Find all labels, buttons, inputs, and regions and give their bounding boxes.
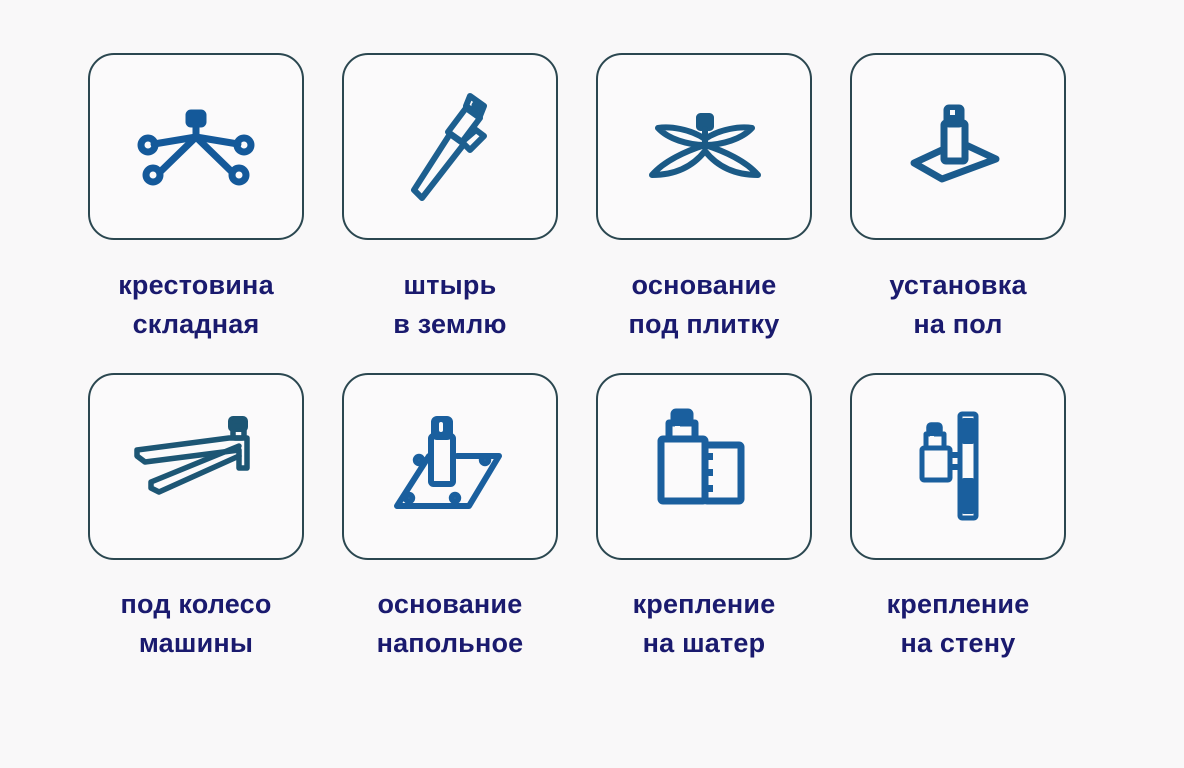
icon-card[interactable] [88,373,304,560]
grid-item-osnovanie-napolnoe[interactable]: основание напольное [342,373,558,664]
grid-item-label: под колесо машины [120,585,271,664]
wheel-base-icon [126,406,266,526]
grid-item-krestovina-skladnaya[interactable]: крестовина складная [88,53,304,345]
icon-card[interactable] [342,53,558,240]
grid-item-pod-koleso-mashiny[interactable]: под колесо машины [88,373,304,664]
icon-card[interactable] [342,373,558,560]
floor-mount-icon [888,87,1028,207]
grid-item-label: крепление на шатер [633,585,776,664]
ground-stake-icon [380,87,520,207]
grid-item-label: установка на пол [889,266,1026,345]
icon-card[interactable] [596,373,812,560]
icon-card[interactable] [850,373,1066,560]
icon-grid-page: крестовина складная штырь в землю [0,0,1184,768]
icon-card[interactable] [596,53,812,240]
grid-item-label: крестовина складная [118,266,274,345]
grid-item-shtyr-v-zemlyu[interactable]: штырь в землю [342,53,558,345]
icon-card[interactable] [850,53,1066,240]
grid-item-kreplenie-na-shater[interactable]: крепление на шатер [596,373,812,664]
grid-item-label: крепление на стену [887,585,1030,664]
grid-item-label: основание под плитку [629,266,780,345]
grid-item-kreplenie-na-stenu[interactable]: крепление на стену [850,373,1066,664]
grid-item-label: основание напольное [377,585,524,664]
floor-plate-base-icon [380,406,520,526]
grid-item-ustanovka-na-pol[interactable]: установка на пол [850,53,1066,345]
wall-mount-icon [888,406,1028,526]
grid-item-osnovanie-pod-plitku[interactable]: основание под плитку [596,53,812,345]
icon-card[interactable] [88,53,304,240]
tile-base-icon [634,87,774,207]
tent-clamp-icon [634,406,774,526]
folding-cross-base-icon [126,87,266,207]
grid-item-label: штырь в землю [393,266,506,345]
mounting-options-grid: крестовина складная штырь в землю [88,53,1096,664]
